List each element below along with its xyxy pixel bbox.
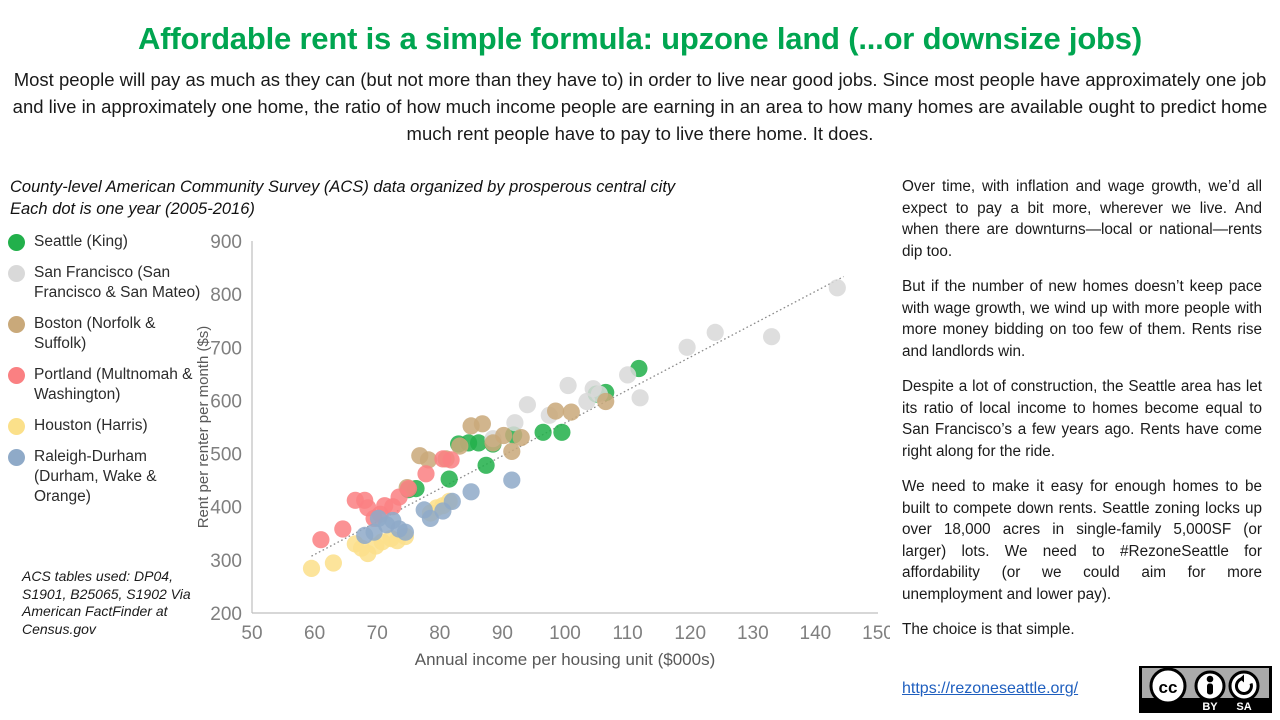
y-tick-label: 600 xyxy=(210,391,242,412)
data-point[interactable] xyxy=(547,403,564,420)
data-point[interactable] xyxy=(829,279,846,296)
data-point[interactable] xyxy=(519,396,536,413)
chart-caption-line-1: County-level American Community Survey (… xyxy=(10,176,870,198)
legend-color-dot-icon xyxy=(8,265,25,282)
legend-item[interactable]: Houston (Harris) xyxy=(8,416,208,436)
data-point[interactable] xyxy=(560,377,577,394)
data-point[interactable] xyxy=(474,415,491,432)
y-tick-label: 200 xyxy=(210,604,242,625)
rezoneseattle-link[interactable]: https://rezoneseattle.org/ xyxy=(902,680,1078,698)
x-tick-label: 150 xyxy=(862,623,890,644)
commentary-paragraph: The choice is that simple. xyxy=(902,619,1262,641)
legend-item[interactable]: Raleigh-Durham (Durham, Wake & Orange) xyxy=(8,447,208,507)
x-tick-label: 140 xyxy=(800,623,832,644)
data-point[interactable] xyxy=(303,560,320,577)
intro-paragraph: Most people will pay as much as they can… xyxy=(8,66,1272,147)
x-tick-label: 120 xyxy=(674,623,706,644)
x-tick-label: 110 xyxy=(612,623,642,644)
x-tick-label: 60 xyxy=(304,623,325,644)
x-tick-label: 100 xyxy=(549,623,581,644)
data-point[interactable] xyxy=(417,465,434,482)
page-title: Affordable rent is a simple formula: upz… xyxy=(0,20,1280,58)
data-point[interactable] xyxy=(707,324,724,341)
data-point[interactable] xyxy=(597,393,614,410)
legend-item[interactable]: Seattle (King) xyxy=(8,232,208,252)
y-tick-label: 800 xyxy=(210,285,242,306)
data-point[interactable] xyxy=(563,404,580,421)
data-point[interactable] xyxy=(503,472,520,489)
commentary-column: Over time, with inflation and wage growt… xyxy=(902,176,1262,655)
data-point[interactable] xyxy=(478,457,495,474)
legend-color-dot-icon xyxy=(8,367,25,384)
legend-color-dot-icon xyxy=(8,418,25,435)
y-tick-label: 400 xyxy=(210,498,242,519)
data-point[interactable] xyxy=(632,389,649,406)
creative-commons-badge: ccBYSA xyxy=(1139,666,1272,713)
legend-item-label: Houston (Harris) xyxy=(34,416,148,436)
cc-text: cc xyxy=(1159,678,1178,697)
legend-color-dot-icon xyxy=(8,316,25,333)
commentary-paragraph: Over time, with inflation and wage growt… xyxy=(902,176,1262,262)
data-point[interactable] xyxy=(441,471,458,488)
acs-source-note: ACS tables used: DP04, S1901, B25065, S1… xyxy=(22,568,212,638)
chart-legend: Seattle (King)San Francisco (San Francis… xyxy=(8,232,208,518)
x-tick-label: 80 xyxy=(429,623,450,644)
data-point[interactable] xyxy=(535,424,552,441)
commentary-paragraph: But if the number of new homes doesn’t k… xyxy=(902,276,1262,362)
y-tick-label: 500 xyxy=(210,445,242,466)
x-tick-label: 130 xyxy=(737,623,769,644)
data-point[interactable] xyxy=(444,493,461,510)
commentary-paragraph: We need to make it easy for enough homes… xyxy=(902,476,1262,605)
data-point[interactable] xyxy=(312,531,329,548)
chart-caption-line-2: Each dot is one year (2005-2016) xyxy=(10,198,870,220)
data-points xyxy=(303,279,846,577)
x-tick-label: 70 xyxy=(367,623,388,644)
x-axis-title: Annual income per housing unit ($000s) xyxy=(415,650,716,669)
legend-item-label: Portland (Multnomah & Washington) xyxy=(34,365,208,405)
data-point[interactable] xyxy=(397,524,414,541)
x-tick-label: 90 xyxy=(492,623,513,644)
y-tick-label: 900 xyxy=(210,232,242,253)
commentary-paragraph: Despite a lot of construction, the Seatt… xyxy=(902,376,1262,462)
y-tick-label: 700 xyxy=(210,338,242,359)
data-point[interactable] xyxy=(400,480,417,497)
legend-color-dot-icon xyxy=(8,234,25,251)
sa-label: SA xyxy=(1236,701,1251,713)
legend-item[interactable]: San Francisco (San Francisco & San Mateo… xyxy=(8,263,208,303)
scatter-chart: 2003004005006007008009005060708090100110… xyxy=(190,225,890,675)
slide-root: Affordable rent is a simple formula: upz… xyxy=(0,0,1280,720)
x-tick-label: 50 xyxy=(241,623,262,644)
y-axis-title: Rent per renter per month ($s) xyxy=(195,326,212,529)
data-point[interactable] xyxy=(763,328,780,345)
chart-caption: County-level American Community Survey (… xyxy=(10,176,870,220)
data-point[interactable] xyxy=(463,483,480,500)
data-point[interactable] xyxy=(679,339,696,356)
data-point[interactable] xyxy=(334,520,351,537)
data-point[interactable] xyxy=(325,554,342,571)
legend-item[interactable]: Portland (Multnomah & Washington) xyxy=(8,365,208,405)
data-point[interactable] xyxy=(553,424,570,441)
data-point[interactable] xyxy=(513,429,530,446)
legend-item-label: Raleigh-Durham (Durham, Wake & Orange) xyxy=(34,447,208,507)
data-point[interactable] xyxy=(619,366,636,383)
legend-item-label: Boston (Norfolk & Suffolk) xyxy=(34,314,208,354)
by-label: BY xyxy=(1202,701,1218,713)
y-tick-label: 300 xyxy=(210,551,242,572)
data-point[interactable] xyxy=(495,427,512,444)
data-point[interactable] xyxy=(443,451,460,468)
legend-item-label: Seattle (King) xyxy=(34,232,128,252)
legend-color-dot-icon xyxy=(8,449,25,466)
legend-item-label: San Francisco (San Francisco & San Mateo… xyxy=(34,263,208,303)
legend-item[interactable]: Boston (Norfolk & Suffolk) xyxy=(8,314,208,354)
